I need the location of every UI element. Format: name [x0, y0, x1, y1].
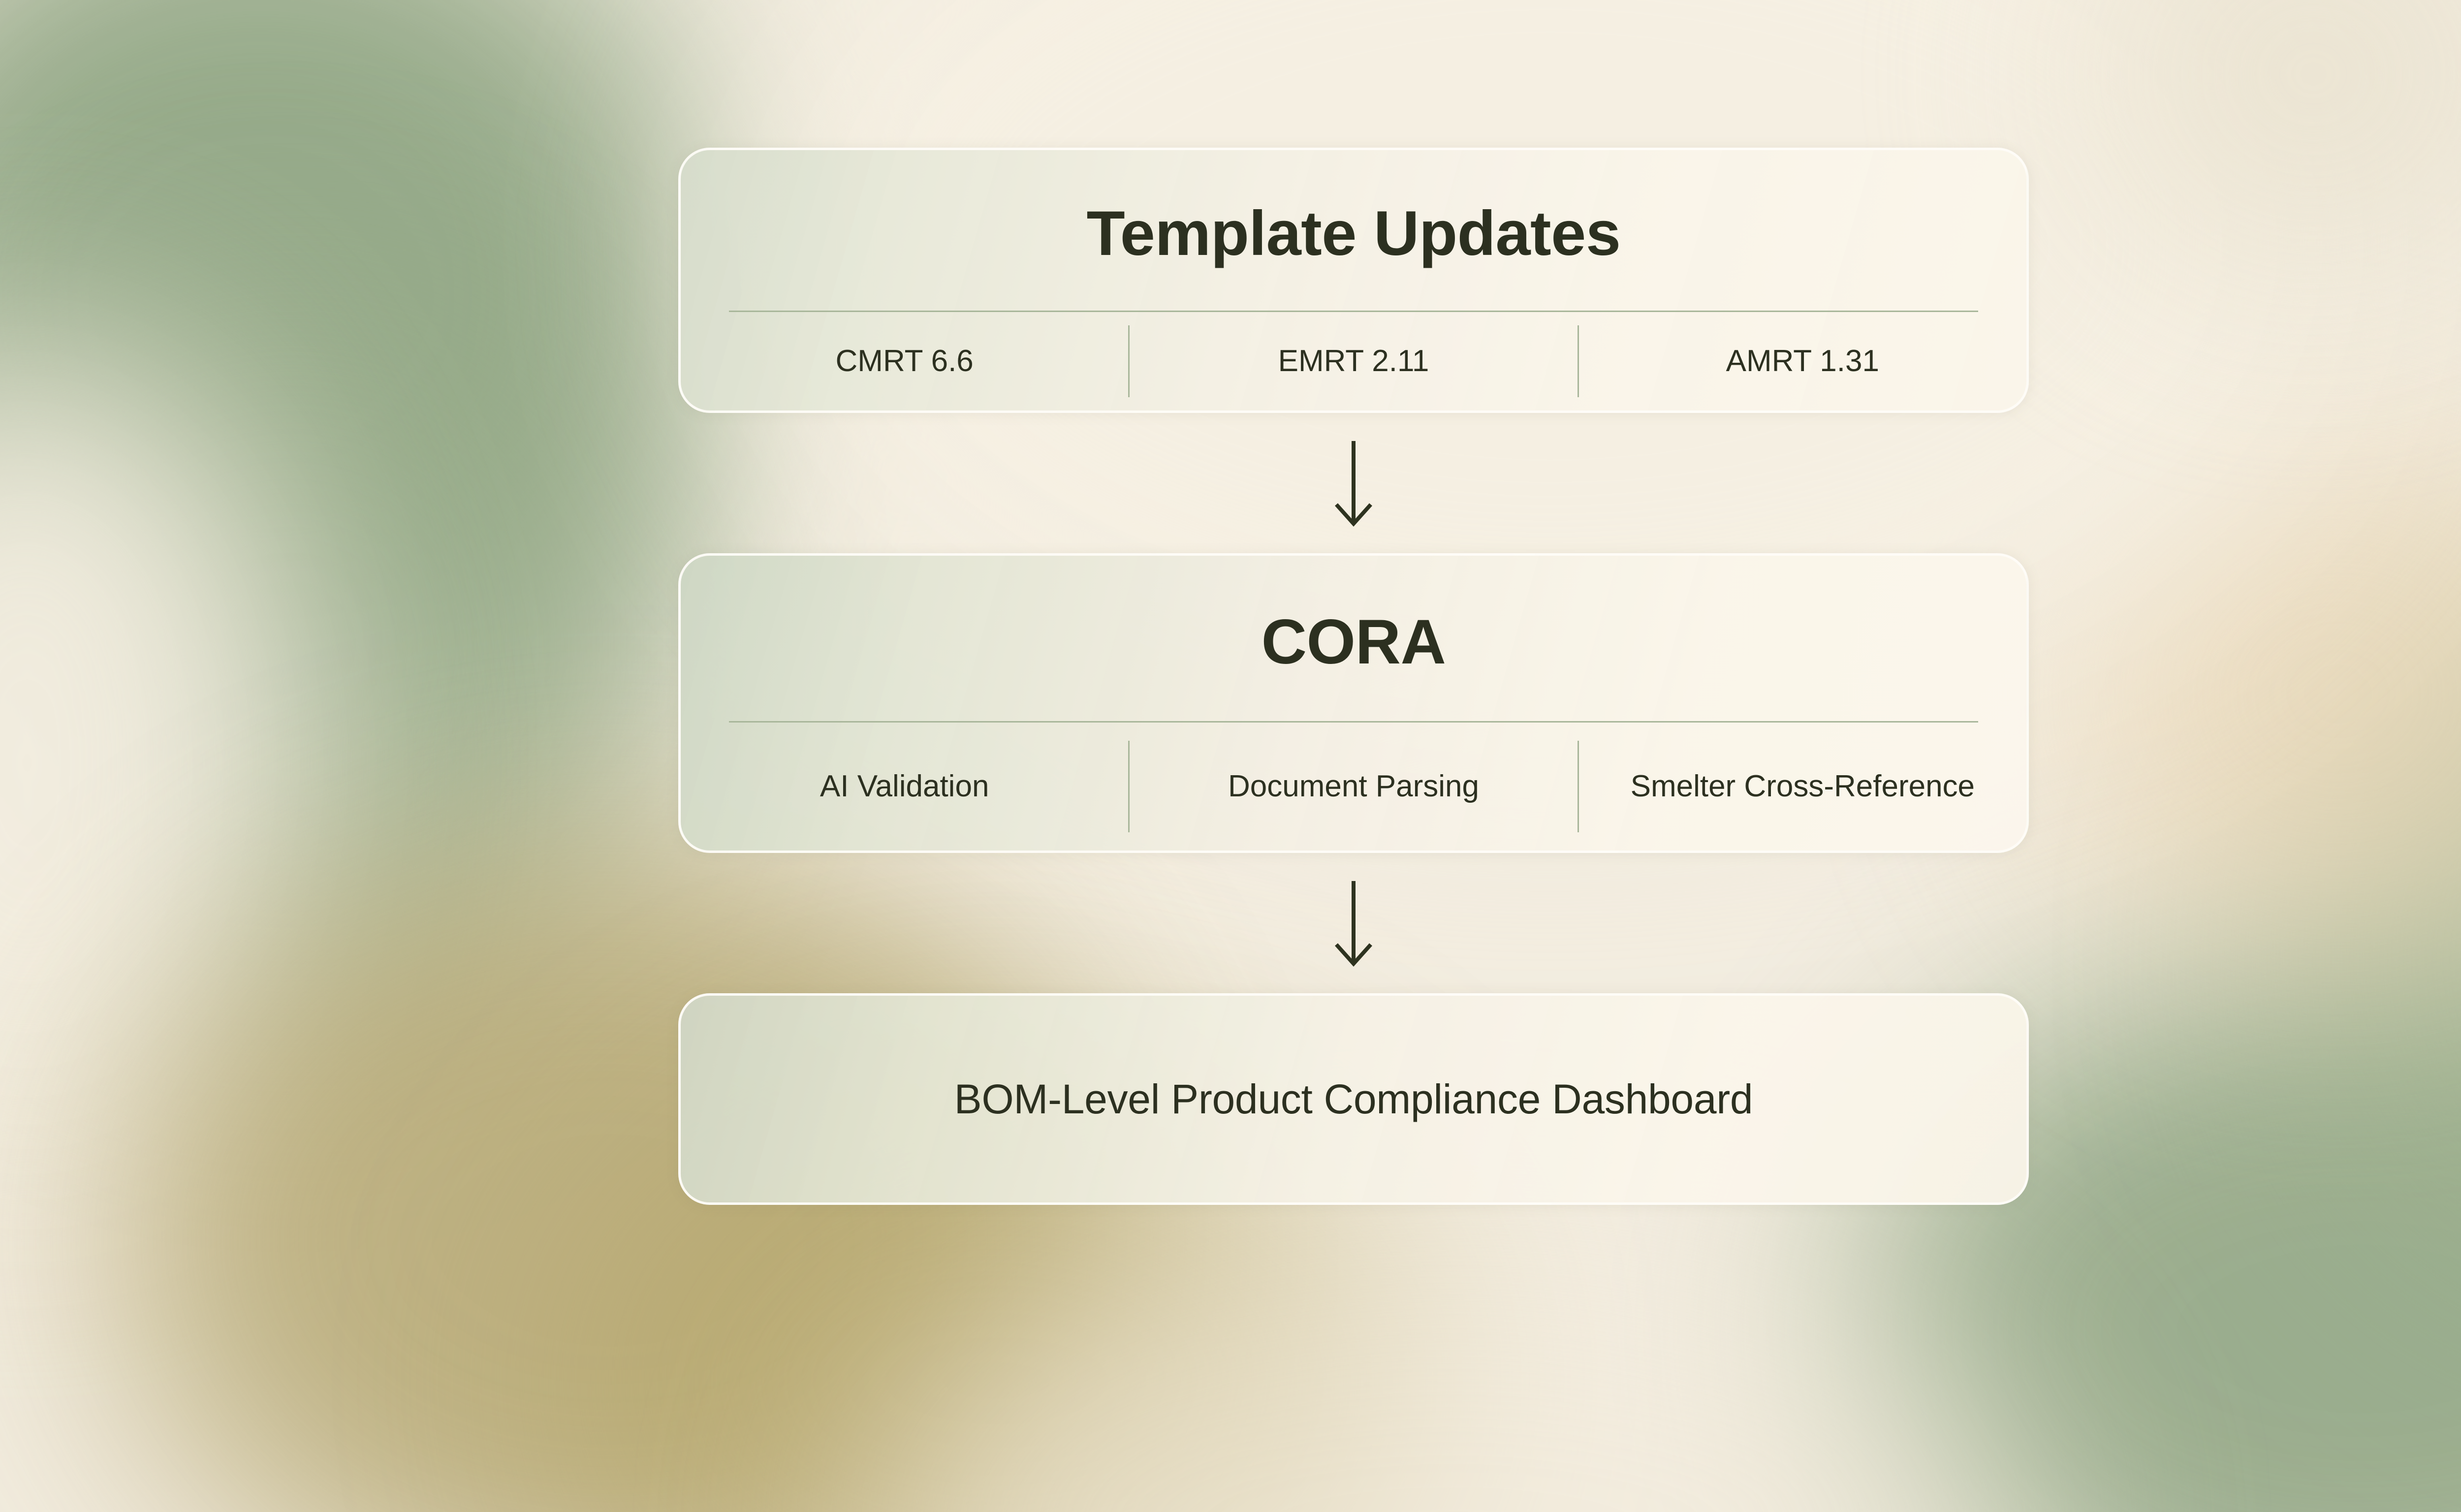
flow-step-title: CORA	[681, 556, 2026, 721]
flow-step-column-document-parsing[interactable]: Document Parsing	[1130, 723, 1577, 850]
flow-step-title: BOM-Level Product Compliance Dashboard	[954, 1075, 1753, 1123]
flow-step-column-amrt[interactable]: AMRT 1.31	[1579, 312, 2026, 410]
flow-step-dashboard[interactable]: BOM-Level Product Compliance Dashboard	[678, 993, 2029, 1205]
flow-step-column-smelter-cross-reference[interactable]: Smelter Cross-Reference	[1579, 723, 2026, 850]
arrow-down-icon	[1331, 440, 1376, 527]
flow-step-column-ai-validation[interactable]: AI Validation	[681, 723, 1128, 850]
flow-step-columns: AI Validation Document Parsing Smelter C…	[681, 723, 2026, 850]
flow-step-template-updates[interactable]: Template Updates CMRT 6.6 EMRT 2.11 AMRT…	[678, 148, 2029, 413]
flow-connector-2	[678, 853, 2029, 993]
process-flow-diagram: Template Updates CMRT 6.6 EMRT 2.11 AMRT…	[678, 148, 2029, 1205]
flow-step-title: Template Updates	[681, 150, 2026, 311]
flow-step-columns: CMRT 6.6 EMRT 2.11 AMRT 1.31	[681, 312, 2026, 410]
flow-step-column-emrt[interactable]: EMRT 2.11	[1130, 312, 1577, 410]
flow-step-column-cmrt[interactable]: CMRT 6.6	[681, 312, 1128, 410]
arrow-down-icon	[1331, 880, 1376, 967]
flow-step-cora[interactable]: CORA AI Validation Document Parsing Smel…	[678, 553, 2029, 853]
flow-connector-1	[678, 413, 2029, 553]
